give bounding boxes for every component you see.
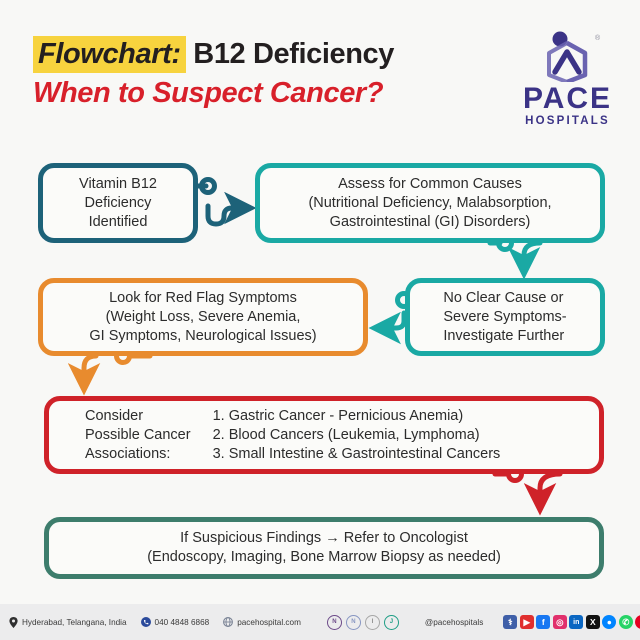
phone-icon <box>141 617 151 627</box>
node-text: If Suspicious Findings → Refer to Oncolo… <box>147 529 501 567</box>
page-title: Flowchart: B12 Deficiency <box>33 38 394 71</box>
logo-wordmark: PACE <box>505 84 630 114</box>
instagram-icon[interactable]: ◎ <box>553 615 567 629</box>
svg-text:®: ® <box>595 34 601 42</box>
page-subtitle: When to Suspect Cancer? <box>33 77 394 110</box>
node-text: Assess for Common Causes (Nutritional De… <box>308 175 551 232</box>
accreditation-nabl-badge: N <box>346 615 361 630</box>
accreditation-jci-badge: J <box>384 615 399 630</box>
footer-website-text: pacehospital.com <box>237 618 301 627</box>
node-assess-common-causes[interactable]: Assess for Common Causes (Nutritional De… <box>255 163 605 243</box>
footer-bar: Hyderabad, Telangana, India 040 4848 686… <box>0 604 640 640</box>
footer-contact-group: Hyderabad, Telangana, India 040 4848 686… <box>0 615 640 630</box>
footer-social-handle: @pacehospitals <box>413 618 483 627</box>
title-rest: B12 Deficiency <box>186 38 394 70</box>
node-vitamin-b12-deficiency-identified[interactable]: Vitamin B12 Deficiency Identified <box>38 163 198 243</box>
infographic-page: Flowchart: B12 Deficiency When to Suspec… <box>0 0 640 640</box>
footer-phone-text: 040 4848 6868 <box>155 618 210 627</box>
header: Flowchart: B12 Deficiency When to Suspec… <box>0 0 640 146</box>
title-block: Flowchart: B12 Deficiency When to Suspec… <box>33 38 394 110</box>
globe-icon <box>223 617 233 627</box>
messenger-icon[interactable]: ● <box>602 615 616 629</box>
node-no-clear-cause-investigate-further[interactable]: No Clear Cause or Severe Symptoms- Inves… <box>405 278 605 356</box>
facebook-icon[interactable]: f <box>536 615 550 629</box>
footer-location: Hyderabad, Telangana, India <box>9 617 127 628</box>
node-text: Look for Red Flag Symptoms (Weight Loss,… <box>89 289 316 346</box>
logo-subtext: HOSPITALS <box>505 114 630 128</box>
practo-icon[interactable]: ⚕ <box>503 615 517 629</box>
footer-phone[interactable]: 040 4848 6868 <box>141 617 210 627</box>
pinterest-icon[interactable]: P <box>635 615 640 629</box>
node-text: No Clear Cause or Severe Symptoms- Inves… <box>443 289 566 346</box>
whatsapp-icon[interactable]: ✆ <box>619 615 633 629</box>
location-pin-icon <box>9 617 18 628</box>
node-refer-to-oncologist[interactable]: If Suspicious Findings → Refer to Oncolo… <box>44 517 604 579</box>
footer-website[interactable]: pacehospital.com <box>223 617 301 627</box>
pace-logo-mark: ® <box>505 30 630 82</box>
connector-b12-to-assess <box>198 180 243 225</box>
footer-location-text: Hyderabad, Telangana, India <box>22 618 127 627</box>
node-text: Vitamin B12 Deficiency Identified <box>79 175 157 232</box>
node-look-for-red-flag-symptoms[interactable]: Look for Red Flag Symptoms (Weight Loss,… <box>38 278 368 356</box>
cancer-list-column: 1. Gastric Cancer - Pernicious Anemia) 2… <box>213 407 501 464</box>
pace-hospitals-logo: ® PACE HOSPITALS <box>505 30 630 130</box>
node-content: Consider Possible Cancer Associations: 1… <box>49 407 599 464</box>
accreditation-nabh-badge: N <box>327 615 342 630</box>
cancer-label-column: Consider Possible Cancer Associations: <box>85 407 191 464</box>
x-twitter-icon[interactable]: X <box>586 615 600 629</box>
accreditation-badges: N N I J <box>315 615 399 630</box>
linkedin-icon[interactable]: in <box>569 615 583 629</box>
accreditation-iso-badge: I <box>365 615 380 630</box>
pace-hexagon-icon: ® <box>505 30 630 82</box>
node-consider-possible-cancer-associations[interactable]: Consider Possible Cancer Associations: 1… <box>44 396 604 474</box>
youtube-icon[interactable]: ▶ <box>520 615 534 629</box>
social-icons-row: ⚕ ▶ f ◎ in X ● ✆ P @ Q ♫ <box>497 615 640 629</box>
title-highlight: Flowchart: <box>33 36 186 73</box>
